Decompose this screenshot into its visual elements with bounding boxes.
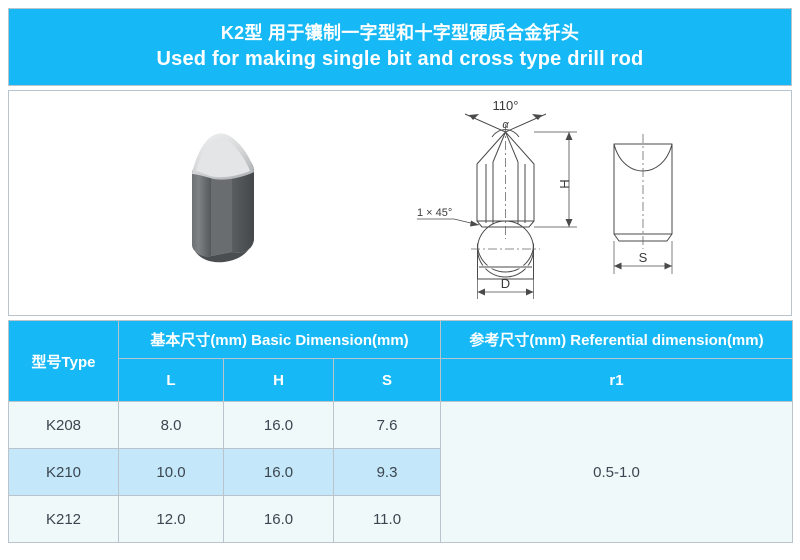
cell-l: 10.0 xyxy=(119,449,224,496)
table-header-row-2: L H S r1 xyxy=(9,359,793,402)
table-row: K208 8.0 16.0 7.6 0.5-1.0 xyxy=(9,402,793,449)
header-sub-r1: r1 xyxy=(441,359,793,402)
cell-s: 9.3 xyxy=(334,449,441,496)
cell-type: K210 xyxy=(9,449,119,496)
cell-l: 12.0 xyxy=(119,496,224,543)
title-english: Used for making single bit and cross typ… xyxy=(157,47,644,71)
header-referential-dimension: 参考尺寸(mm) Referential dimension(mm) xyxy=(441,321,793,359)
cell-s: 11.0 xyxy=(334,496,441,543)
cell-type: K212 xyxy=(9,496,119,543)
title-banner: K2型 用于镶制一字型和十字型硬质合金钎头 Used for making si… xyxy=(8,8,792,86)
engineering-drawing: 110° α 1 × 45° H D S xyxy=(409,94,709,309)
figure-panel: 110° α 1 × 45° H D S xyxy=(8,90,792,316)
label-height-h: H xyxy=(557,179,572,188)
cell-h: 16.0 xyxy=(224,496,334,543)
label-width-s: S xyxy=(639,250,648,265)
product-spec-page: K2型 用于镶制一字型和十字型硬质合金钎头 Used for making si… xyxy=(0,0,800,560)
header-sub-l: L xyxy=(119,359,224,402)
cell-l: 8.0 xyxy=(119,402,224,449)
label-diameter-d: D xyxy=(501,276,510,291)
label-chamfer: 1 × 45° xyxy=(417,207,452,219)
cell-h: 16.0 xyxy=(224,402,334,449)
specification-table: 型号Type 基本尺寸(mm) Basic Dimension(mm) 参考尺寸… xyxy=(8,320,793,543)
product-photo xyxy=(114,116,374,291)
header-sub-s: S xyxy=(334,359,441,402)
cell-r1: 0.5-1.0 xyxy=(441,402,793,543)
cell-s: 7.6 xyxy=(334,402,441,449)
header-type: 型号Type xyxy=(9,321,119,402)
header-sub-h: H xyxy=(224,359,334,402)
cell-h: 16.0 xyxy=(224,449,334,496)
label-angle-alpha: α xyxy=(502,119,509,131)
label-angle-110: 110° xyxy=(493,98,519,113)
header-basic-dimension: 基本尺寸(mm) Basic Dimension(mm) xyxy=(119,321,441,359)
title-chinese: K2型 用于镶制一字型和十字型硬质合金钎头 xyxy=(221,23,579,45)
cell-type: K208 xyxy=(9,402,119,449)
table-header-row-1: 型号Type 基本尺寸(mm) Basic Dimension(mm) 参考尺寸… xyxy=(9,321,793,359)
